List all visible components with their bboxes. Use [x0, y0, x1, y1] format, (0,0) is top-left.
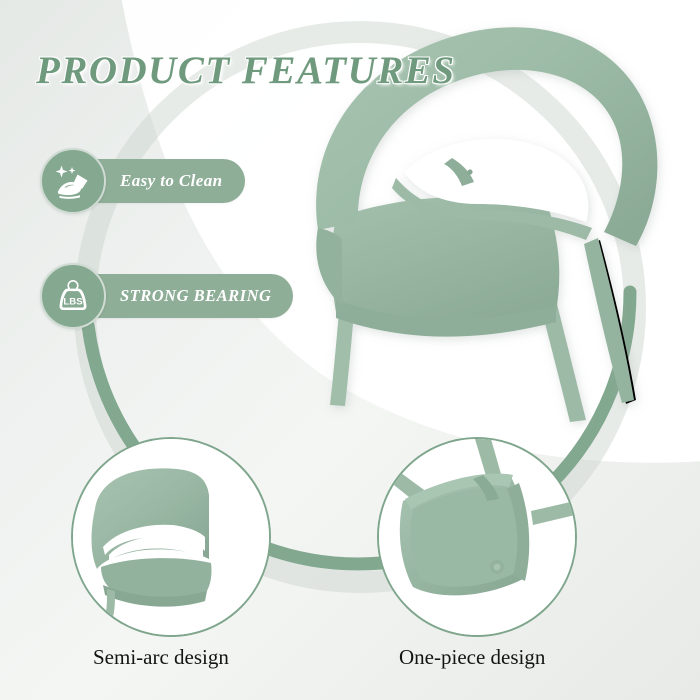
feature-badge-strong-bearing[interactable]: LBS STRONG BEARING: [40, 263, 293, 329]
callout-one-piece-image: [379, 439, 575, 635]
feature-badge-easy-to-clean[interactable]: Easy to Clean: [40, 148, 245, 214]
weight-lbs-icon: LBS: [40, 263, 106, 329]
callout-semi-arc-design[interactable]: [71, 437, 271, 637]
infographic-canvas: PRODUCT FEATURES Easy to Clean: [0, 0, 700, 700]
sparkle-hand-wipe-icon: [40, 148, 106, 214]
caption-semi-arc-design: Semi-arc design: [93, 645, 229, 670]
callout-semi-arc-image: [73, 439, 269, 635]
page-title: PRODUCT FEATURES: [36, 48, 456, 93]
feature-label-easy-to-clean: Easy to Clean: [120, 171, 223, 191]
lbs-icon-text: LBS: [63, 296, 83, 307]
caption-one-piece-design: One-piece design: [399, 645, 545, 670]
feature-label-strong-bearing: STRONG BEARING: [120, 286, 271, 306]
callout-one-piece-design[interactable]: [377, 437, 577, 637]
feature-badge-label-wrapper: STRONG BEARING: [74, 274, 293, 318]
